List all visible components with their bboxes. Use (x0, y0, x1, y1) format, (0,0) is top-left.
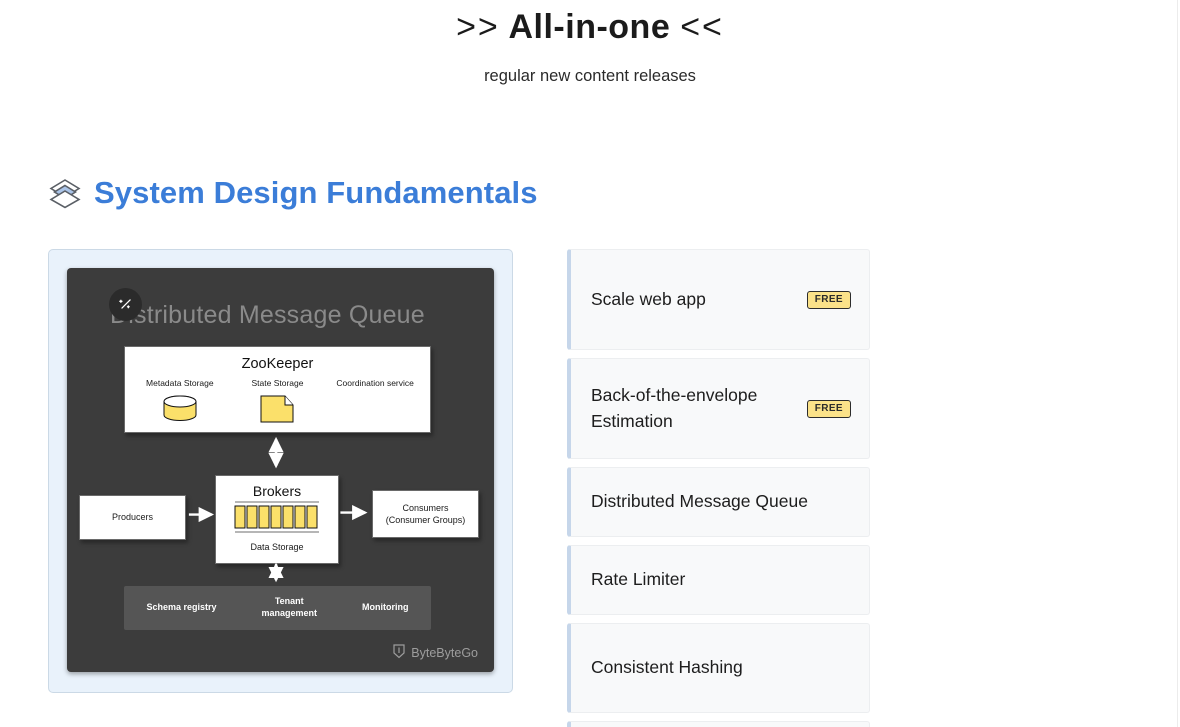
tenant-line-1: Tenant (275, 596, 304, 606)
tenant-line-2: management (262, 608, 318, 618)
state-storage-label: State Storage (229, 378, 326, 389)
zookeeper-item-metadata: Metadata Storage (131, 378, 228, 426)
consumers-label: Consumers (Consumer Groups) (386, 502, 466, 526)
producers-label: Producers (112, 511, 153, 523)
zookeeper-columns: Metadata Storage State Storage (125, 378, 430, 426)
diagram-title: Distributed Message Queue (110, 301, 425, 330)
free-badge: FREE (807, 291, 851, 309)
hero-subtitle: regular new content releases (0, 67, 1180, 86)
topic-card-unique-id-generator[interactable]: Unique ID Generator (567, 721, 870, 727)
bytebytego-logo-icon (392, 643, 406, 662)
zookeeper-item-state: State Storage (229, 378, 326, 426)
zookeeper-title: ZooKeeper (125, 356, 430, 372)
topic-card-scale-web-app[interactable]: Scale web app FREE (567, 249, 870, 350)
zookeeper-box: ZooKeeper Metadata Storage (124, 346, 431, 433)
services-strip: Schema registry Tenant management Monito… (124, 586, 431, 630)
page-title: >> All-in-one << (0, 6, 1180, 49)
monitoring-label: Monitoring (362, 602, 409, 614)
course-preview-panel[interactable]: Distributed Message Queue ZooKeeper Meta… (48, 249, 513, 693)
brokers-title: Brokers (216, 483, 338, 499)
consumers-line-1: Consumers (402, 503, 448, 513)
data-storage-bars-icon (216, 499, 338, 540)
chevron-left-glyph: >> (456, 8, 500, 46)
bytebytego-watermark: ByteByteGo (392, 643, 478, 662)
free-badge: FREE (807, 400, 851, 418)
page-root: >> All-in-one << regular new content rel… (0, 0, 1180, 727)
hero-title-text: All-in-one (508, 8, 670, 46)
layers-icon (48, 176, 82, 210)
card-title: Back-of-the-envelope Estimation (591, 383, 797, 434)
schema-registry-label: Schema registry (146, 602, 216, 614)
chevron-right-glyph: << (680, 8, 724, 46)
consumers-box: Consumers (Consumer Groups) (372, 490, 479, 538)
brokers-sublabel: Data Storage (216, 542, 338, 552)
document-icon (229, 392, 326, 426)
metadata-storage-label: Metadata Storage (131, 378, 228, 389)
brokers-box: Brokers (215, 475, 339, 564)
topic-card-consistent-hashing[interactable]: Consistent Hashing (567, 623, 870, 713)
zookeeper-item-coordination: Coordination service (327, 378, 424, 389)
card-title: Rate Limiter (591, 567, 685, 592)
consumers-line-2: (Consumer Groups) (386, 515, 466, 525)
topic-card-back-of-the-envelope-estimation[interactable]: Back-of-the-envelope Estimation FREE (567, 358, 870, 459)
scrollbar-track[interactable] (1177, 0, 1178, 727)
card-title: Distributed Message Queue (591, 489, 808, 514)
topic-card-rate-limiter[interactable]: Rate Limiter (567, 545, 870, 615)
card-title: Consistent Hashing (591, 655, 743, 680)
card-title: Scale web app (591, 287, 706, 312)
magic-wand-icon[interactable] (109, 288, 142, 321)
diagram-card[interactable]: Distributed Message Queue ZooKeeper Meta… (67, 268, 494, 672)
topic-card-distributed-message-queue[interactable]: Distributed Message Queue (567, 467, 870, 537)
section-heading: System Design Fundamentals (48, 175, 538, 211)
tenant-management-label: Tenant management (262, 596, 318, 619)
watermark-text: ByteByteGo (411, 646, 478, 660)
section-title: System Design Fundamentals (94, 175, 538, 211)
hero-section: >> All-in-one << regular new content rel… (0, 0, 1180, 86)
content-row: Distributed Message Queue ZooKeeper Meta… (48, 249, 1134, 727)
database-cylinder-icon (131, 392, 228, 426)
topic-card-grid: Scale web app FREE Back-of-the-envelope … (567, 249, 1134, 727)
coordination-service-label: Coordination service (327, 378, 424, 389)
producers-box: Producers (79, 495, 186, 540)
